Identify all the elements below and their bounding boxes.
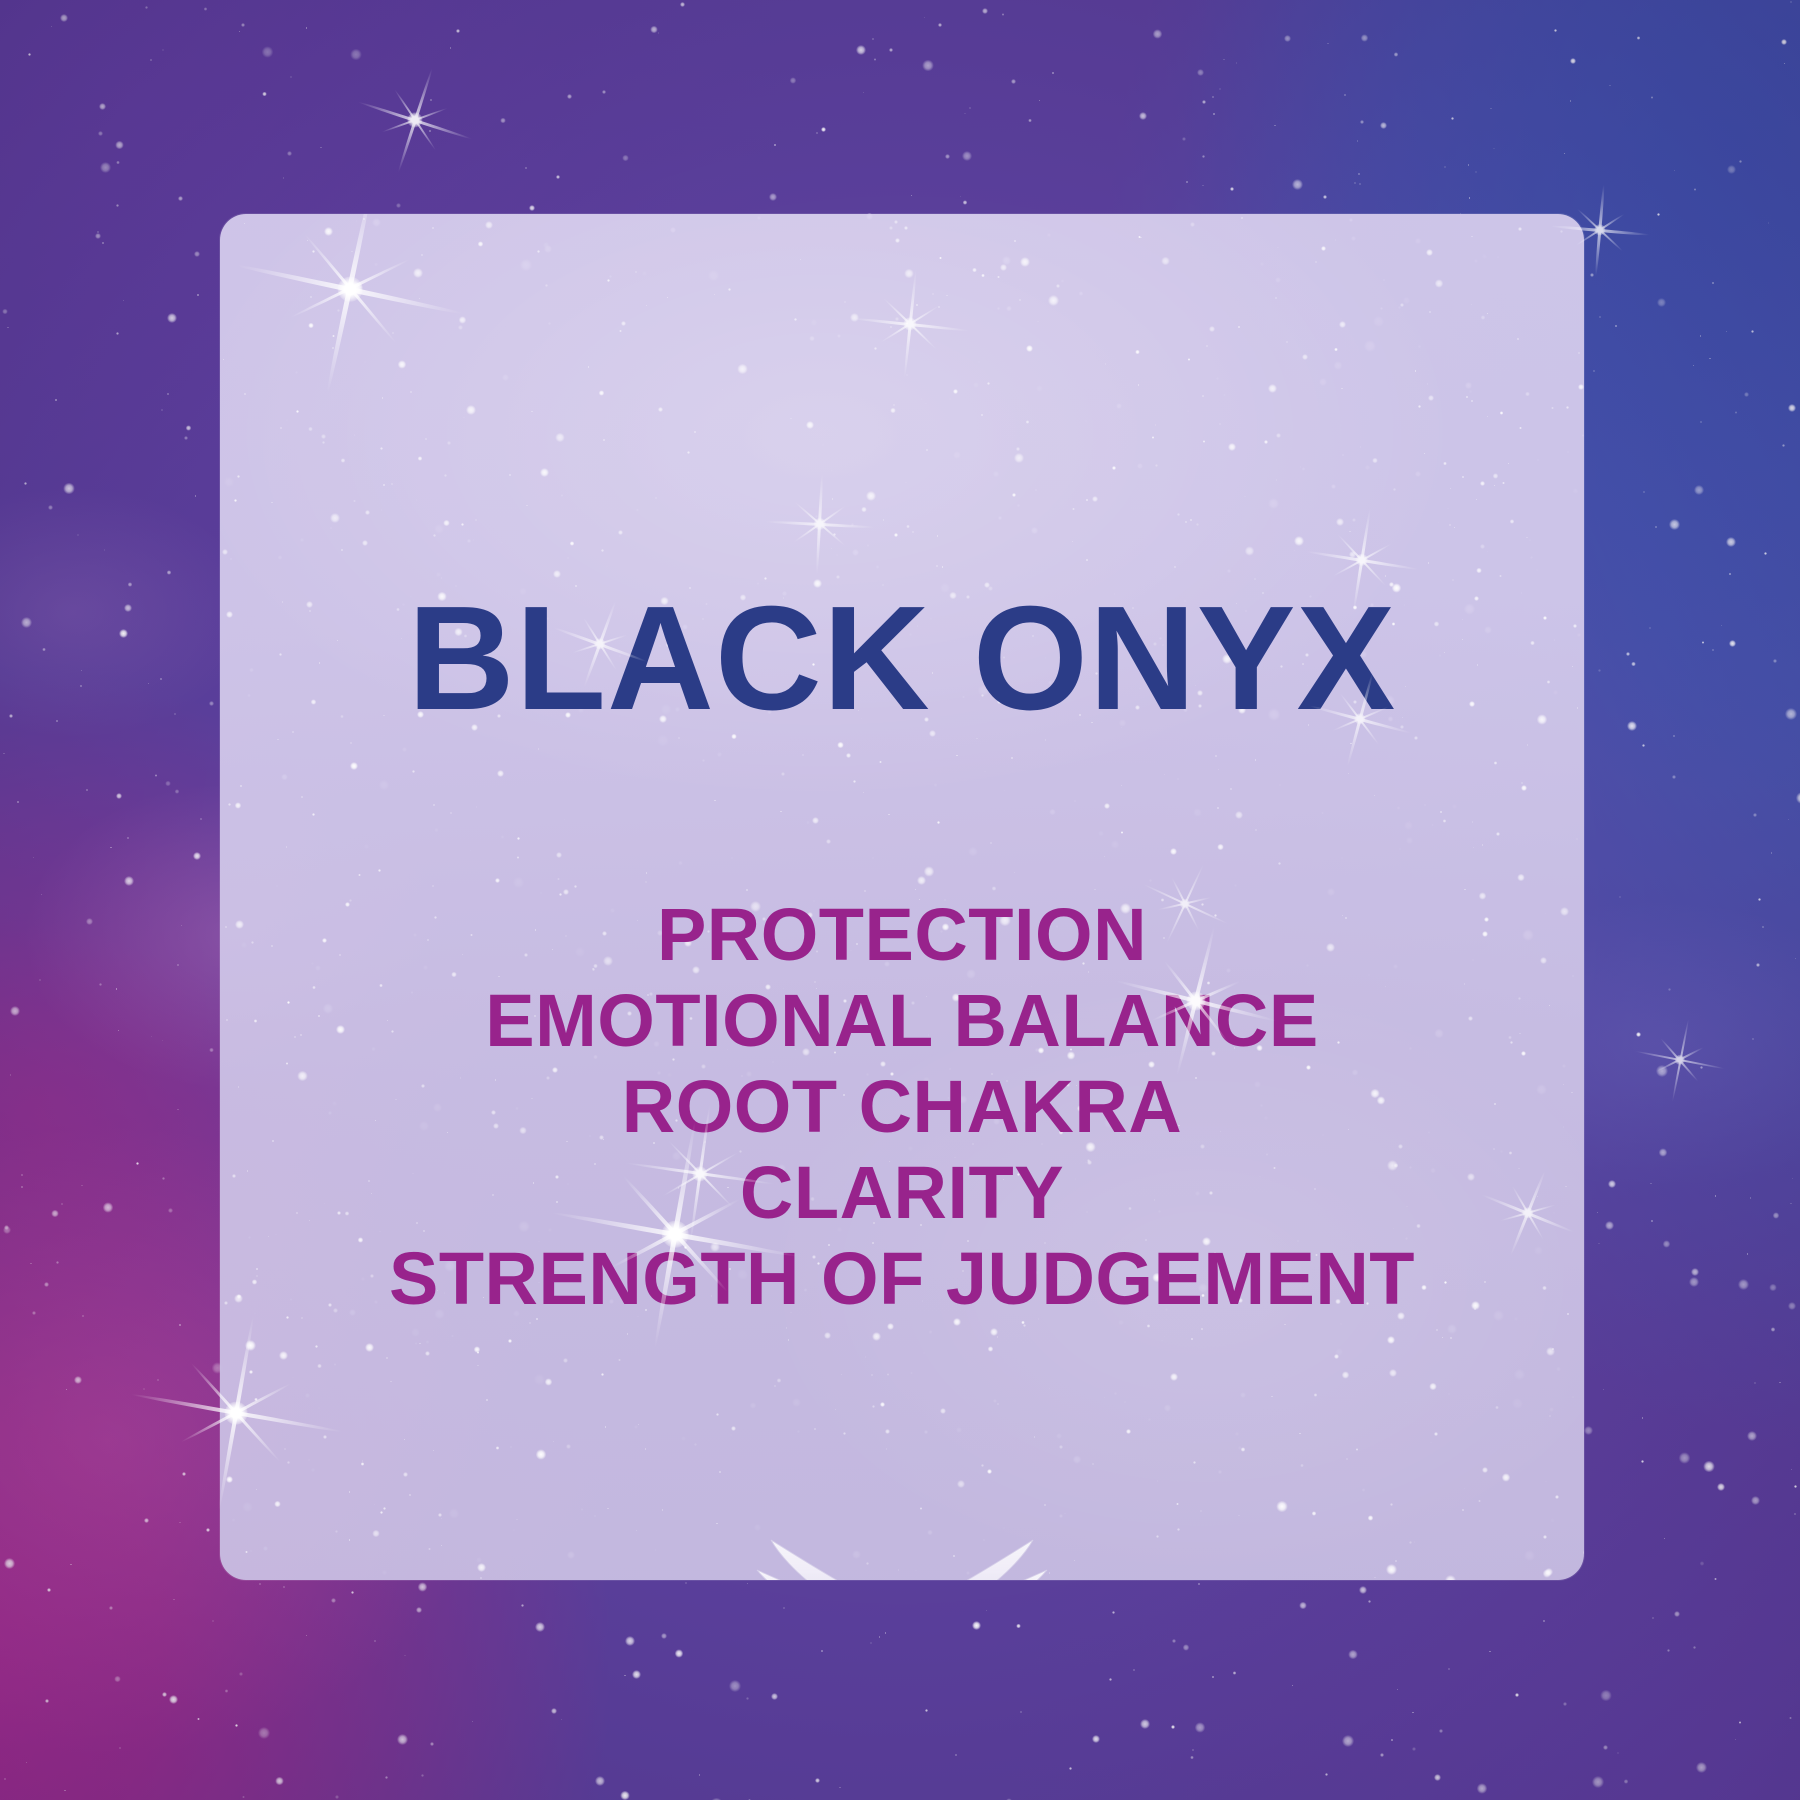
property-item: CLARITY [220,1150,1584,1236]
property-item: EMOTIONAL BALANCE [220,978,1584,1064]
sparkle-star-icon [807,511,833,537]
property-item: STRENGTH OF JUDGEMENT [220,1236,1584,1322]
promo-graphic: BLACK ONYX PROTECTION EMOTIONAL BALANCE … [0,0,1800,1800]
angel-wings-icon [667,1504,1137,1580]
brand-logo: Eurasia Crafts EST. 1971 [592,1504,1212,1580]
sparkle-star-icon [896,310,924,338]
sparkle-star-icon [324,263,376,315]
page-title: BLACK ONYX [220,585,1584,733]
info-card: BLACK ONYX PROTECTION EMOTIONAL BALANCE … [220,214,1584,1580]
property-item: PROTECTION [220,892,1584,978]
properties-list: PROTECTION EMOTIONAL BALANCE ROOT CHAKRA… [220,892,1584,1322]
property-item: ROOT CHAKRA [220,1064,1584,1150]
